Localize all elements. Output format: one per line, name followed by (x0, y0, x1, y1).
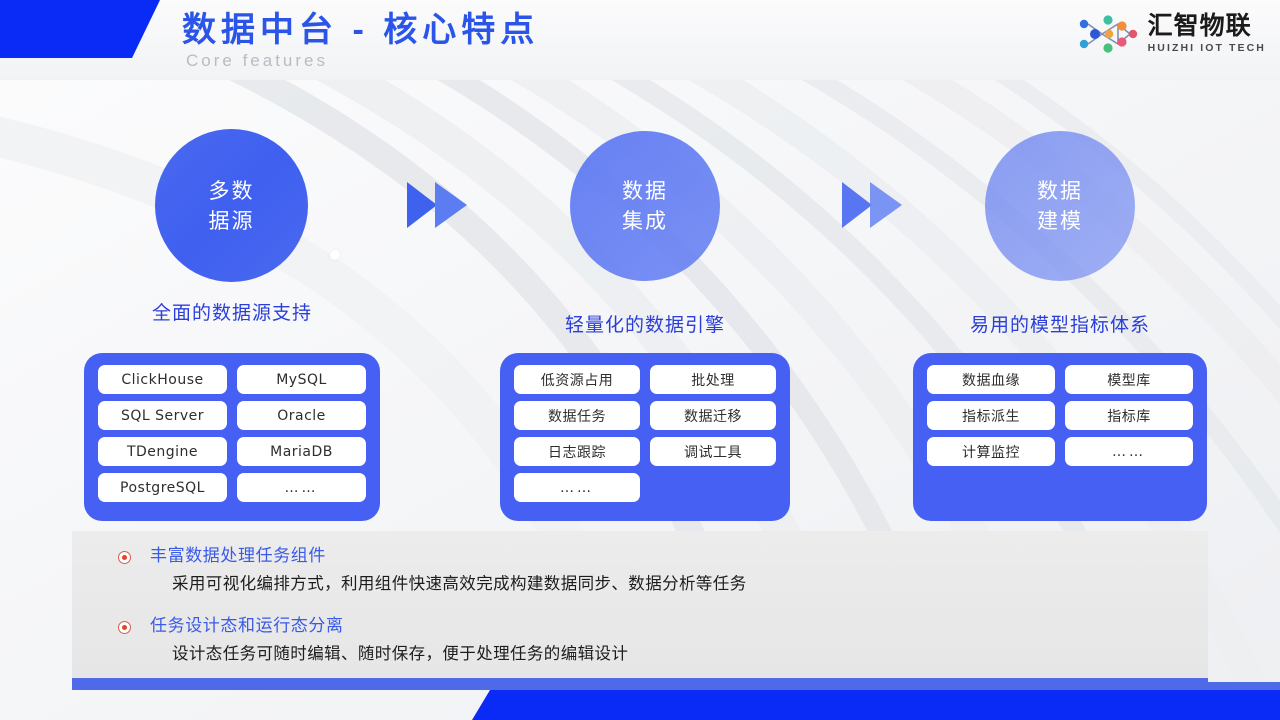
tag-item[interactable]: 调试工具 (650, 437, 776, 466)
feature-note-2-title: 任务设计态和运行态分离 (150, 613, 1208, 639)
flow-step-2-line1: 数据 (622, 176, 668, 206)
tag-item-more[interactable]: …… (1065, 437, 1193, 466)
tag-item[interactable]: 指标库 (1065, 401, 1193, 430)
flow-step-3-line1: 数据 (1037, 176, 1083, 206)
feature-notes-panel: 丰富数据处理任务组件 采用可视化编排方式，利用组件快速高效完成构建数据同步、数据… (72, 531, 1208, 690)
flow-step-circle-1[interactable]: 多数 据源 (155, 129, 308, 282)
tag-item[interactable]: 模型库 (1065, 365, 1193, 394)
flow-step-circle-3[interactable]: 数据 建模 (985, 131, 1135, 281)
tag-item[interactable]: 日志跟踪 (514, 437, 640, 466)
decorative-dot (330, 250, 340, 260)
tag-item-more[interactable]: …… (237, 473, 366, 502)
target-bullet-icon-2 (118, 621, 131, 634)
slide-canvas: 数据中台 - 核心特点 Core features (0, 0, 1280, 720)
brand-logo: 汇智物联 HUIZHI IOT TECH (1078, 10, 1266, 58)
tag-item[interactable]: Oracle (237, 401, 366, 430)
tag-item[interactable]: TDengine (98, 437, 227, 466)
tag-item[interactable]: MySQL (237, 365, 366, 394)
tag-item[interactable]: 数据迁移 (650, 401, 776, 430)
tag-item[interactable]: ClickHouse (98, 365, 227, 394)
group-caption-3: 易用的模型指标体系 (880, 310, 1240, 337)
tag-item[interactable]: MariaDB (237, 437, 366, 466)
feature-note-2-desc: 设计态任务可随时编辑、随时保存，便于处理任务的编辑设计 (172, 639, 1208, 669)
tag-panel-model: 数据血缘 模型库 指标派生 指标库 计算监控 …… (913, 353, 1207, 521)
double-triangle-right-icon (405, 178, 475, 232)
tag-item[interactable]: 计算监控 (927, 437, 1055, 466)
tag-panel-engine: 低资源占用 批处理 数据任务 数据迁移 日志跟踪 调试工具 …… (500, 353, 790, 521)
flow-step-circle-2[interactable]: 数据 集成 (570, 131, 720, 281)
page-subtitle: Core features (186, 50, 539, 72)
group-caption-1: 全面的数据源支持 (0, 298, 464, 325)
group-caption-2: 轻量化的数据引擎 (460, 310, 830, 337)
title-block: 数据中台 - 核心特点 Core features (182, 8, 539, 72)
feature-note-1-title: 丰富数据处理任务组件 (150, 543, 1208, 569)
flow-step-1-line1: 多数 (209, 176, 255, 206)
logo-wordmark: 汇智物联 HUIZHI IOT TECH (1148, 14, 1266, 54)
logo-name-en: HUIZHI IOT TECH (1148, 43, 1266, 54)
feature-note-1-desc: 采用可视化编排方式，利用组件快速高效完成构建数据同步、数据分析等任务 (172, 569, 1208, 599)
tag-item-more[interactable]: …… (514, 473, 640, 502)
header-accent-chip (0, 0, 160, 58)
logo-name-cn: 汇智物联 (1148, 14, 1266, 39)
double-triangle-right-icon-2 (840, 178, 910, 232)
tag-item[interactable]: 数据任务 (514, 401, 640, 430)
tag-item[interactable]: 数据血缘 (927, 365, 1055, 394)
molecule-network-icon (1078, 10, 1140, 58)
tag-item[interactable]: 低资源占用 (514, 365, 640, 394)
tag-panel-datasources: ClickHouse MySQL SQL Server Oracle TDeng… (84, 353, 380, 521)
flow-step-2-line2: 集成 (622, 206, 668, 236)
feature-note-1: 丰富数据处理任务组件 采用可视化编排方式，利用组件快速高效完成构建数据同步、数据… (72, 543, 1208, 599)
flow-step-3-line2: 建模 (1037, 206, 1083, 236)
tag-item[interactable]: SQL Server (98, 401, 227, 430)
tag-item[interactable]: 批处理 (650, 365, 776, 394)
flow-step-1-line2: 据源 (209, 206, 255, 236)
feature-note-2: 任务设计态和运行态分离 设计态任务可随时编辑、随时保存，便于处理任务的编辑设计 (72, 613, 1208, 669)
target-bullet-icon (118, 551, 131, 564)
page-title: 数据中台 - 核心特点 (182, 8, 539, 52)
tag-item[interactable]: PostgreSQL (98, 473, 227, 502)
tag-item[interactable]: 指标派生 (927, 401, 1055, 430)
